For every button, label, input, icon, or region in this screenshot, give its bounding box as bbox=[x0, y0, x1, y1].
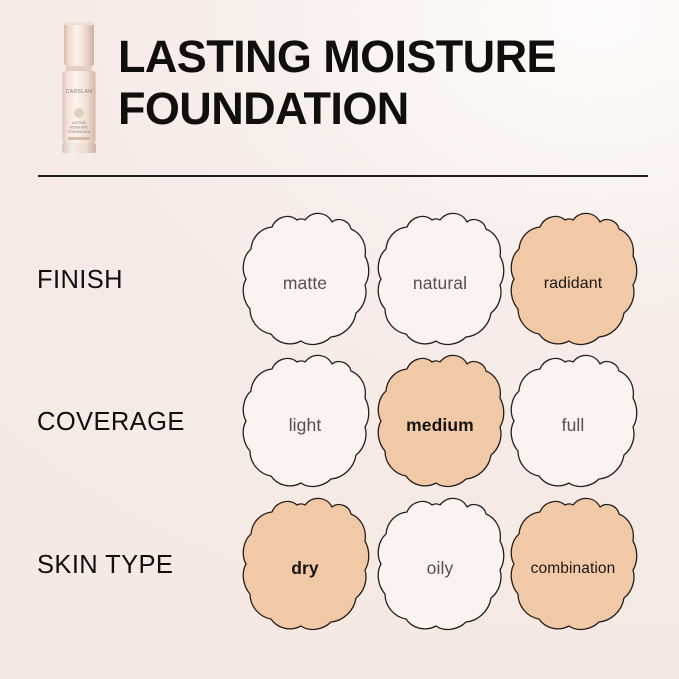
header-divider bbox=[38, 175, 648, 177]
attribute-label: full bbox=[505, 350, 641, 495]
attribute-label: medium bbox=[372, 350, 508, 495]
row-label-skin-type: SKIN TYPE bbox=[37, 551, 237, 580]
table-row: COVERAGE light medium bbox=[0, 350, 679, 495]
table-row: FINISH matte natural bbox=[0, 208, 679, 353]
svg-text:FOUNDATION: FOUNDATION bbox=[68, 130, 91, 134]
row-label-finish: FINISH bbox=[37, 266, 237, 295]
attribute-cell-matte[interactable]: matte bbox=[237, 208, 373, 353]
row-cells: light medium bbox=[237, 350, 657, 495]
attribute-cell-dry[interactable]: dry bbox=[237, 493, 373, 638]
attribute-label: oily bbox=[372, 493, 508, 638]
attribute-label: combination bbox=[505, 493, 641, 638]
title-line-1: LASTING MOISTURE bbox=[118, 31, 663, 83]
row-cells: dry oily com bbox=[237, 493, 657, 638]
svg-text:LASTING: LASTING bbox=[72, 121, 87, 125]
header: CARSLAN LASTING MOISTURE FOUNDATION LAST… bbox=[0, 0, 679, 190]
attribute-label: dry bbox=[237, 493, 373, 638]
attribute-cell-radidant[interactable]: radidant bbox=[505, 208, 641, 353]
attribute-label: matte bbox=[237, 208, 373, 353]
row-cells: matte natural bbox=[237, 208, 657, 353]
attribute-cell-combination[interactable]: combination bbox=[505, 493, 641, 638]
svg-text:CARSLAN: CARSLAN bbox=[66, 89, 92, 95]
table-row: SKIN TYPE dry oily bbox=[0, 493, 679, 638]
attribute-cell-light[interactable]: light bbox=[237, 350, 373, 495]
product-attribute-infographic: CARSLAN LASTING MOISTURE FOUNDATION LAST… bbox=[0, 0, 679, 679]
title-line-2: FOUNDATION bbox=[118, 83, 663, 135]
attribute-table: FINISH matte natural bbox=[0, 190, 679, 679]
attribute-label: natural bbox=[372, 208, 508, 353]
attribute-cell-medium[interactable]: medium bbox=[372, 350, 508, 495]
attribute-cell-natural[interactable]: natural bbox=[372, 208, 508, 353]
attribute-cell-full[interactable]: full bbox=[505, 350, 641, 495]
svg-text:MOISTURE: MOISTURE bbox=[70, 126, 89, 130]
page-title: LASTING MOISTURE FOUNDATION bbox=[118, 31, 663, 135]
row-label-coverage: COVERAGE bbox=[37, 408, 237, 437]
attribute-label: radidant bbox=[505, 208, 641, 353]
foundation-bottle-icon: CARSLAN LASTING MOISTURE FOUNDATION bbox=[57, 20, 101, 156]
attribute-label: light bbox=[237, 350, 373, 495]
attribute-cell-oily[interactable]: oily bbox=[372, 493, 508, 638]
